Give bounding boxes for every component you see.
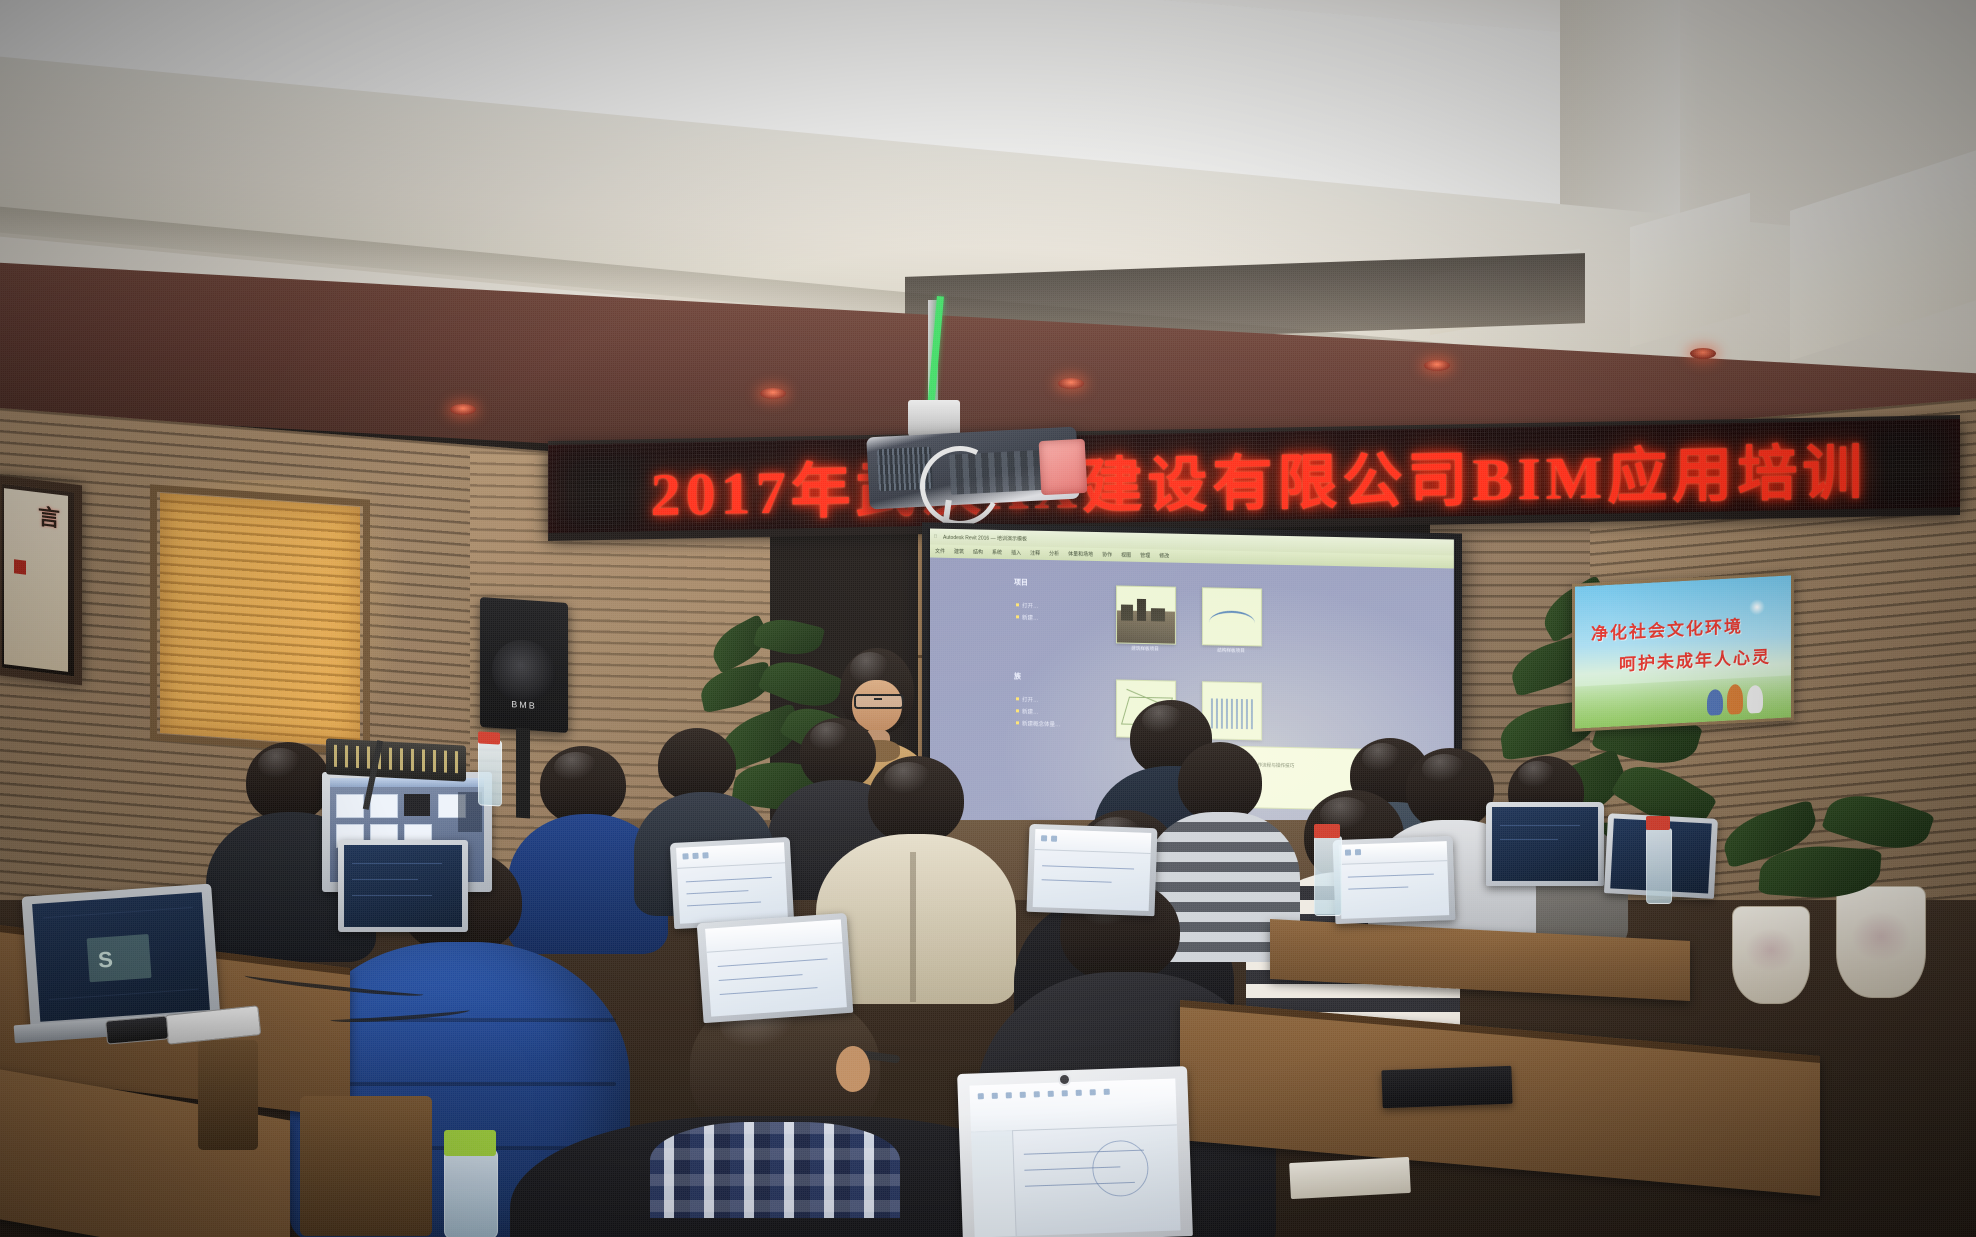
jacket-quilt-seam bbox=[304, 1082, 616, 1086]
section-bullet[interactable]: 打开… bbox=[1016, 601, 1039, 609]
laptop-foreground-screen[interactable] bbox=[969, 1078, 1180, 1237]
ceiling-downlight-icon bbox=[1424, 360, 1450, 371]
ceiling-downlight-icon bbox=[450, 404, 476, 415]
thermos-bottle-cap bbox=[444, 1130, 496, 1156]
menu-item[interactable]: 协作 bbox=[1102, 551, 1112, 558]
laptop-mid-left-screen[interactable] bbox=[705, 919, 847, 1016]
wall-poster: 净化社会文化环境 呵护未成年人心灵 bbox=[1572, 572, 1794, 732]
framed-calligraphy-text: 言 bbox=[6, 494, 64, 671]
chair-back bbox=[300, 1096, 432, 1236]
section-heading: 项目 bbox=[1014, 577, 1028, 587]
thermos-bottle[interactable] bbox=[444, 1148, 498, 1237]
ear bbox=[836, 1046, 870, 1092]
laptop-right-center-screen[interactable] bbox=[1033, 829, 1152, 911]
menu-item[interactable]: 管理 bbox=[1140, 552, 1150, 559]
ceiling-downlight-icon bbox=[760, 388, 786, 399]
template-thumbnail[interactable] bbox=[1202, 587, 1262, 646]
menu-item[interactable]: 视图 bbox=[1121, 552, 1131, 559]
plant-pot bbox=[1836, 886, 1926, 998]
water-bottle-cap bbox=[1646, 816, 1670, 830]
menu-item[interactable]: 注释 bbox=[1030, 550, 1040, 557]
projected-app-title: Autodesk Revit 2016 — 培训演示模板 bbox=[943, 533, 1027, 542]
papers[interactable] bbox=[1289, 1157, 1411, 1199]
poster-sun-icon bbox=[1749, 599, 1765, 616]
menu-item[interactable]: 修改 bbox=[1159, 552, 1169, 559]
laptop-right-screen[interactable] bbox=[1339, 841, 1450, 919]
water-bottle[interactable] bbox=[1646, 828, 1672, 904]
poster-figure bbox=[1727, 684, 1743, 715]
ceiling-downlight-icon bbox=[1690, 348, 1716, 359]
laptop-left-wallpaper-letter: S bbox=[97, 947, 113, 974]
menu-item[interactable]: 插入 bbox=[1011, 549, 1021, 556]
section-bullet[interactable]: 新建概念体量… bbox=[1016, 719, 1061, 728]
chair-back bbox=[198, 1040, 258, 1150]
presenter-glasses-icon bbox=[854, 694, 904, 709]
menu-item[interactable]: 结构 bbox=[973, 548, 983, 555]
section-bullet[interactable]: 打开… bbox=[1016, 695, 1039, 703]
poster-text-line1: 净化社会文化环境 bbox=[1591, 612, 1743, 645]
notebook[interactable] bbox=[1381, 1066, 1512, 1109]
water-bottle-cap bbox=[478, 731, 500, 744]
menu-item[interactable]: 文件 bbox=[935, 548, 945, 555]
template-thumbnail[interactable] bbox=[1116, 585, 1176, 644]
section-heading: 族 bbox=[1014, 671, 1021, 681]
speaker-stand bbox=[516, 728, 530, 819]
section-bullet[interactable]: 新建… bbox=[1016, 707, 1039, 715]
menu-item[interactable]: 系统 bbox=[992, 549, 1002, 556]
menu-item[interactable]: 分析 bbox=[1049, 550, 1059, 557]
ceiling-downlight-icon bbox=[1058, 378, 1084, 389]
thumbnail-caption: 建筑样板项目 bbox=[1112, 645, 1178, 652]
menu-item[interactable]: 建筑 bbox=[954, 548, 964, 555]
laptop-center-screen[interactable] bbox=[676, 842, 788, 924]
projector-lens bbox=[1039, 439, 1088, 495]
calligraphy-seal-icon bbox=[14, 559, 26, 574]
section-bullet[interactable]: 新建… bbox=[1016, 613, 1039, 621]
water-bottle-cap bbox=[1314, 824, 1340, 838]
menu-item[interactable]: 体量和场地 bbox=[1068, 550, 1093, 558]
window-frame bbox=[150, 484, 370, 755]
thumbnail-caption: 结构样板项目 bbox=[1198, 647, 1264, 654]
plaid-collar bbox=[650, 1122, 900, 1218]
desktop-monitor-secondary-screen[interactable] bbox=[344, 845, 462, 927]
poster-figure bbox=[1707, 689, 1723, 716]
presenter-glasses-bridge bbox=[874, 698, 882, 700]
monitor-far-right-screen[interactable] bbox=[1492, 807, 1598, 881]
laptop-left-screen[interactable]: S bbox=[32, 892, 210, 1022]
poster-figure bbox=[1747, 685, 1763, 714]
poster-text-line2: 呵护未成年人心灵 bbox=[1619, 642, 1771, 675]
water-bottle[interactable] bbox=[478, 739, 502, 806]
water-bottle[interactable] bbox=[1314, 836, 1342, 916]
photo-scene: 言 2017年武汉XX建设有限公司BIM应用培训 □ Autodesk Revi… bbox=[0, 0, 1976, 1237]
vest-seam bbox=[910, 852, 916, 1002]
plant-pot bbox=[1732, 906, 1810, 1004]
projector-mount-bracket bbox=[908, 400, 960, 436]
